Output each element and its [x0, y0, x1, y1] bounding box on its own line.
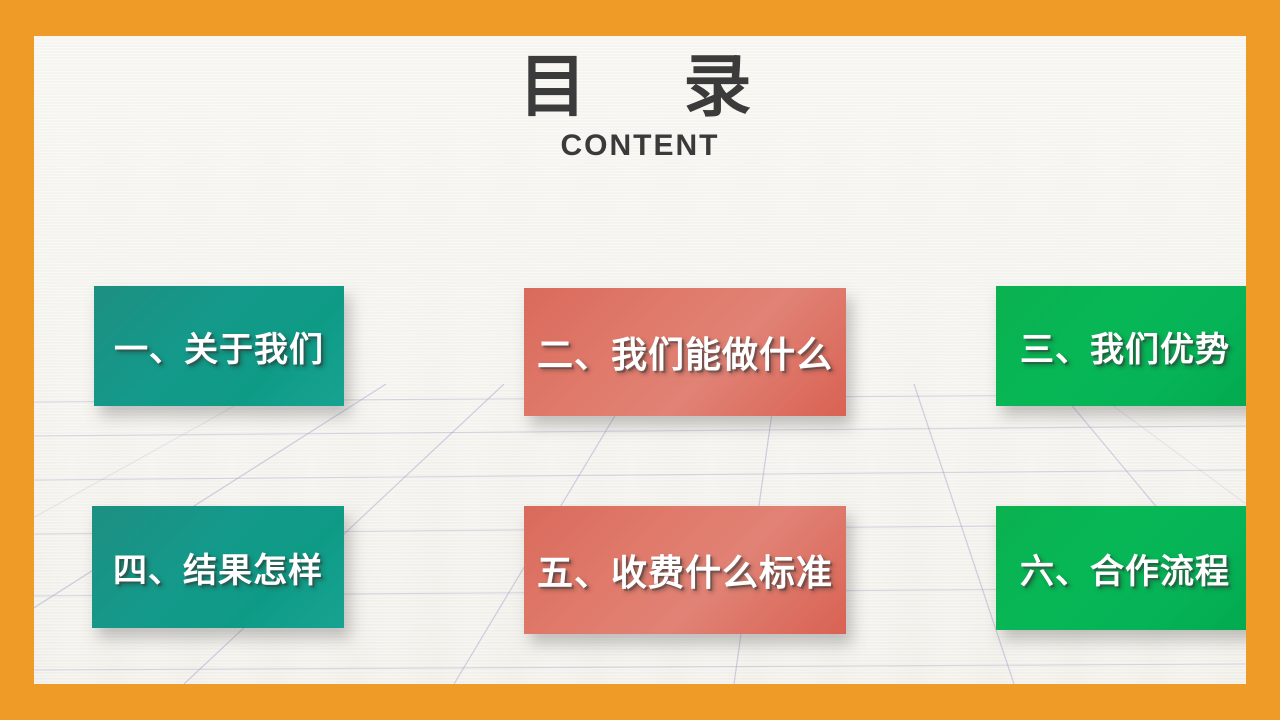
content-item-4[interactable]: 四、结果怎样: [92, 506, 344, 628]
slide-inner-area: 目 录 CONTENT 一、关于我们 二、我们能做什么 三、我们优势 四、结果怎…: [34, 36, 1246, 684]
content-item-3-label: 三、我们优势: [996, 322, 1246, 371]
content-item-5[interactable]: 五、收费什么标准: [524, 506, 846, 634]
content-item-5-label: 五、收费什么标准: [524, 544, 846, 596]
page-title: 目 录: [34, 52, 1246, 123]
slide-canvas: 目 录 CONTENT 一、关于我们 二、我们能做什么 三、我们优势 四、结果怎…: [0, 0, 1280, 720]
content-item-4-label: 四、结果怎样: [92, 543, 344, 592]
content-item-2[interactable]: 二、我们能做什么: [524, 288, 846, 416]
content-item-6[interactable]: 六、合作流程: [996, 506, 1246, 630]
content-item-1-label: 一、关于我们: [94, 322, 344, 371]
content-item-1[interactable]: 一、关于我们: [94, 286, 344, 406]
content-item-3[interactable]: 三、我们优势: [996, 286, 1246, 406]
title-block: 目 录 CONTENT: [34, 52, 1246, 163]
content-item-6-label: 六、合作流程: [996, 544, 1246, 593]
page-subtitle: CONTENT: [34, 129, 1246, 163]
content-item-2-label: 二、我们能做什么: [524, 326, 846, 378]
